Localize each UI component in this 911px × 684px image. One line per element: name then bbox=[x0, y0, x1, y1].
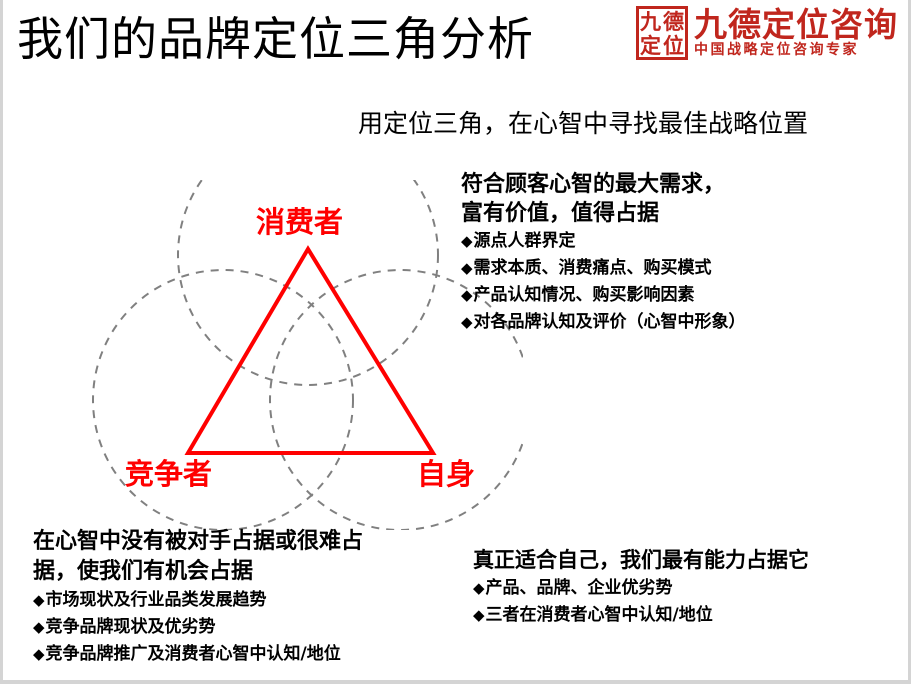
list-item: ◆竞争品牌现状及优劣势 bbox=[33, 614, 363, 641]
logo-text-group: 九德定位咨询 中国战略定位咨询专家 bbox=[694, 7, 898, 59]
consumer-bullet-list: ◆源点人群界定 ◆需求本质、消费痛点、购买模式 ◆产品认知情况、购买影响因素 ◆… bbox=[461, 228, 746, 336]
seal-char-2: 德 bbox=[662, 9, 685, 33]
competitor-heading-line-2: 据，使我们有机会占据 bbox=[33, 557, 363, 587]
list-item: ◆三者在消费者心智中认知/地位 bbox=[473, 602, 809, 629]
list-item-label: 市场现状及行业品类发展趋势 bbox=[46, 590, 267, 610]
list-item-label: 产品认知情况、购买影响因素 bbox=[474, 285, 695, 305]
consumer-heading: 符合顾客心智的最大需求， 富有价值，值得占据 bbox=[461, 170, 746, 228]
diamond-bullet-icon: ◆ bbox=[33, 645, 46, 663]
slide-canvas: 我们的品牌定位三角分析 九 德 定 位 九德定位咨询 中国战略定位咨询专家 用定… bbox=[0, 0, 911, 684]
seal-char-3: 定 bbox=[639, 33, 662, 57]
list-item-label: 竞争品牌推广及消费者心智中认知/地位 bbox=[46, 644, 341, 664]
list-item: ◆竞争品牌推广及消费者心智中认知/地位 bbox=[33, 641, 363, 668]
diamond-bullet-icon: ◆ bbox=[473, 606, 486, 624]
list-item: ◆需求本质、消费痛点、购买模式 bbox=[461, 255, 746, 282]
list-item: ◆市场现状及行业品类发展趋势 bbox=[33, 587, 363, 614]
venn-label-consumer: 消费者 bbox=[256, 206, 343, 238]
list-item-label: 三者在消费者心智中认知/地位 bbox=[486, 605, 713, 625]
diamond-bullet-icon: ◆ bbox=[461, 259, 474, 277]
list-item: ◆产品、品牌、企业优劣势 bbox=[473, 575, 809, 602]
list-item-label: 需求本质、消费痛点、购买模式 bbox=[474, 258, 712, 278]
diamond-bullet-icon: ◆ bbox=[473, 579, 486, 597]
list-item-label: 竞争品牌现状及优劣势 bbox=[46, 617, 216, 637]
diamond-bullet-icon: ◆ bbox=[461, 313, 474, 331]
slide-subtitle: 用定位三角，在心智中寻找最佳战略位置 bbox=[358, 108, 808, 140]
self-heading-line-1: 真正适合自己，我们最有能力占据它 bbox=[473, 545, 809, 575]
competitor-circle bbox=[93, 270, 353, 530]
venn-label-competitor: 竞争者 bbox=[125, 458, 212, 490]
diamond-bullet-icon: ◆ bbox=[461, 232, 474, 250]
diamond-bullet-icon: ◆ bbox=[461, 286, 474, 304]
competitor-text-block: 在心智中没有被对手占据或很难占 据，使我们有机会占据 ◆市场现状及行业品类发展趋… bbox=[33, 527, 363, 668]
consumer-text-block: 符合顾客心智的最大需求， 富有价值，值得占据 ◆源点人群界定 ◆需求本质、消费痛… bbox=[461, 170, 746, 336]
self-heading: 真正适合自己，我们最有能力占据它 bbox=[473, 545, 809, 575]
logo-company-name: 九德定位咨询 bbox=[694, 7, 898, 42]
page-title: 我们的品牌定位三角分析 bbox=[17, 12, 534, 66]
list-item: ◆产品认知情况、购买影响因素 bbox=[461, 282, 746, 309]
self-text-block: 真正适合自己，我们最有能力占据它 ◆产品、品牌、企业优劣势 ◆三者在消费者心智中… bbox=[473, 545, 809, 629]
list-item-label: 对各品牌认知及评价（心智中形象） bbox=[474, 312, 746, 332]
competitor-heading: 在心智中没有被对手占据或很难占 据，使我们有机会占据 bbox=[33, 527, 363, 587]
consumer-heading-line-2: 富有价值，值得占据 bbox=[461, 199, 746, 228]
diamond-bullet-icon: ◆ bbox=[33, 591, 46, 609]
seal-char-1: 九 bbox=[639, 9, 662, 33]
brand-logo: 九 德 定 位 九德定位咨询 中国战略定位咨询专家 bbox=[636, 6, 898, 60]
self-bullet-list: ◆产品、品牌、企业优劣势 ◆三者在消费者心智中认知/地位 bbox=[473, 575, 809, 629]
diamond-bullet-icon: ◆ bbox=[33, 618, 46, 636]
venn-label-self: 自身 bbox=[417, 458, 475, 490]
competitor-heading-line-1: 在心智中没有被对手占据或很难占 bbox=[33, 527, 363, 557]
consumer-heading-line-1: 符合顾客心智的最大需求， bbox=[461, 170, 746, 199]
logo-tagline: 中国战略定位咨询专家 bbox=[694, 42, 859, 59]
list-item-label: 源点人群界定 bbox=[474, 231, 576, 251]
list-item: ◆源点人群界定 bbox=[461, 228, 746, 255]
list-item: ◆对各品牌认知及评价（心智中形象） bbox=[461, 309, 746, 336]
list-item-label: 产品、品牌、企业优劣势 bbox=[486, 578, 673, 598]
competitor-bullet-list: ◆市场现状及行业品类发展趋势 ◆竞争品牌现状及优劣势 ◆竞争品牌推广及消费者心智… bbox=[33, 587, 363, 668]
seal-char-4: 位 bbox=[662, 33, 685, 57]
seal-stamp-icon: 九 德 定 位 bbox=[636, 6, 688, 60]
